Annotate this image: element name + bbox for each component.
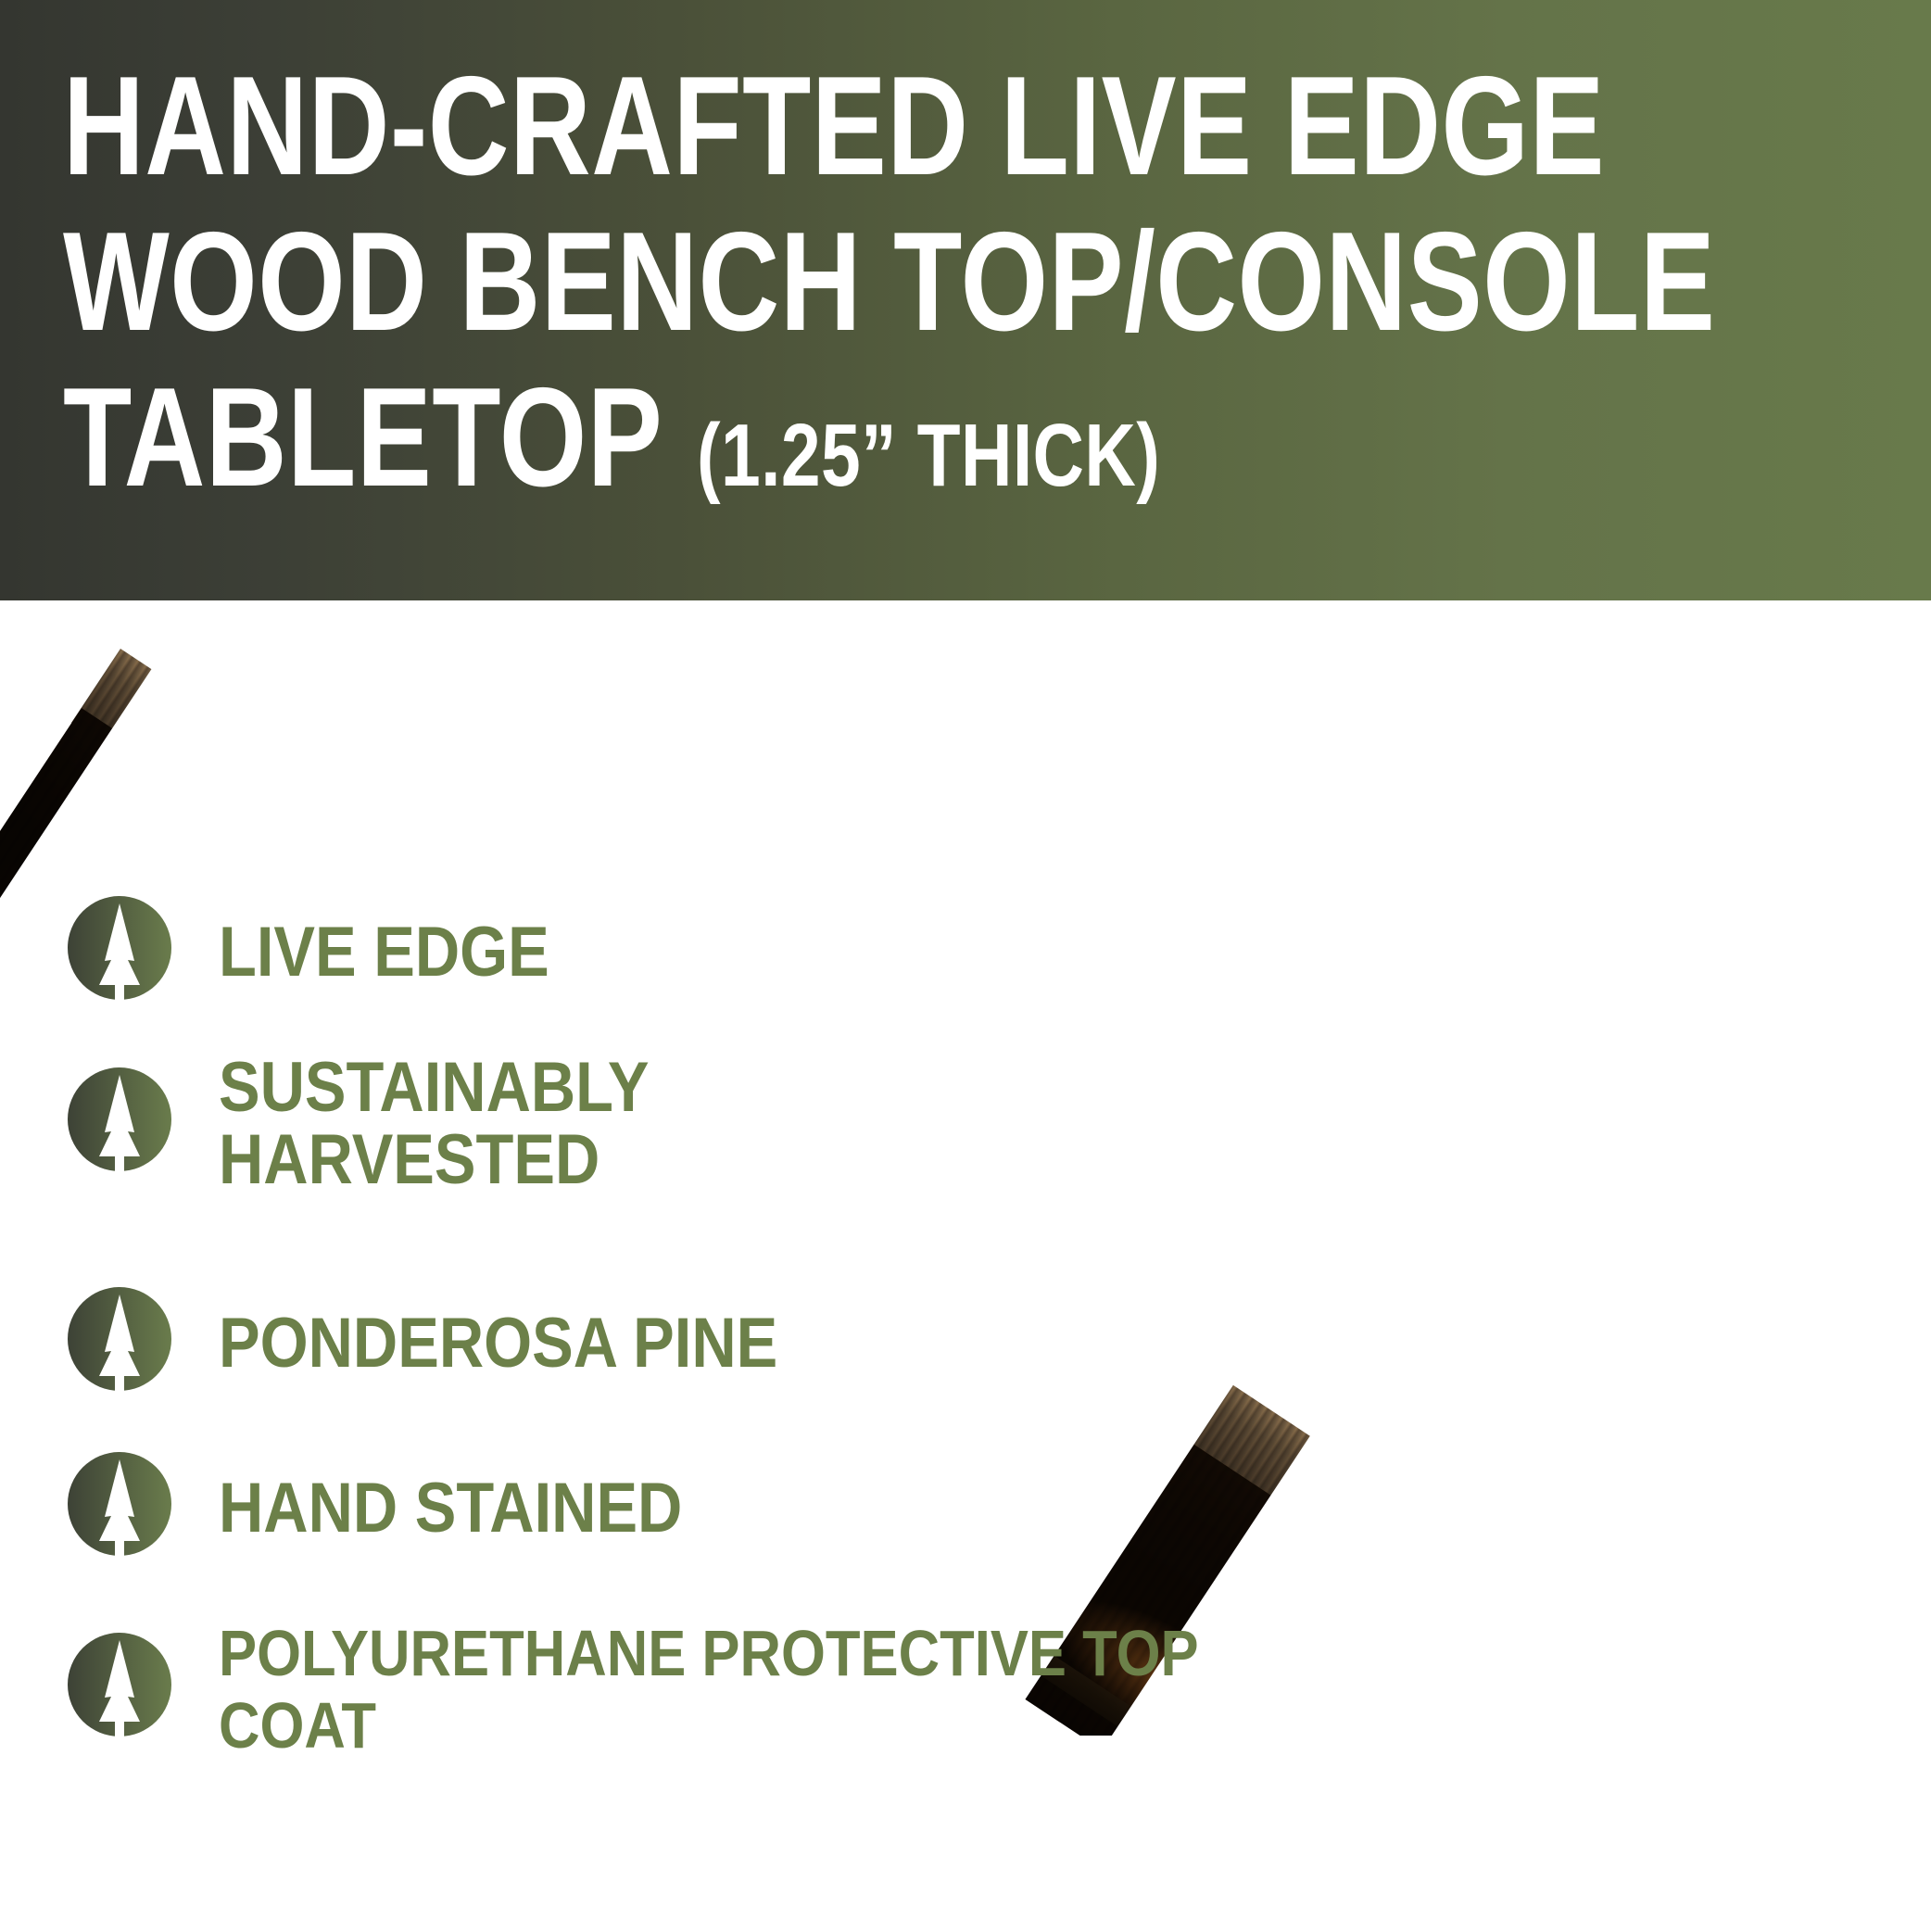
- page-title-line-2: WOOD BENCH TOP/CONSOLE: [63, 204, 1516, 360]
- title-block: HAND-CRAFTED LIVE EDGE WOOD BENCH TOP/CO…: [63, 48, 1879, 515]
- feature-item-ponderosa-pine: PONDEROSA PINE: [61, 1285, 854, 1402]
- feature-item-hand-stained: HAND STAINED: [61, 1450, 746, 1567]
- header-banner: HAND-CRAFTED LIVE EDGE WOOD BENCH TOP/CO…: [0, 0, 1931, 600]
- feature-label: PONDEROSA PINE: [219, 1307, 777, 1380]
- feature-label: HAND STAINED: [219, 1472, 682, 1545]
- pine-tree-icon: [61, 1450, 178, 1567]
- feature-label: LIVE EDGE: [219, 916, 549, 989]
- pine-tree-icon: [61, 1285, 178, 1402]
- product-marketing-image: HAND-CRAFTED LIVE EDGE WOOD BENCH TOP/CO…: [0, 0, 1931, 1932]
- pine-tree-icon: [61, 1631, 178, 1748]
- feature-label: SUSTAINABLY HARVESTED: [219, 1052, 650, 1196]
- feature-item-polyurethane-top-coat: POLYURETHANE PROTECTIVE TOP COAT: [61, 1617, 1390, 1762]
- feature-item-live-edge: LIVE EDGE: [61, 894, 594, 1011]
- pine-tree-icon: [61, 1066, 178, 1182]
- pine-tree-icon: [61, 894, 178, 1011]
- page-title-line-3-row: TABLETOP (1.25” THICK): [63, 360, 1516, 515]
- page-title-line-3: TABLETOP: [63, 360, 663, 515]
- thickness-note: (1.25” THICK): [697, 411, 1160, 500]
- page-title-line-1: HAND-CRAFTED LIVE EDGE: [63, 48, 1516, 204]
- feature-item-sustainably-harvested: SUSTAINABLY HARVESTED: [61, 1052, 708, 1196]
- feature-label: POLYURETHANE PROTECTIVE TOP COAT: [219, 1617, 1249, 1762]
